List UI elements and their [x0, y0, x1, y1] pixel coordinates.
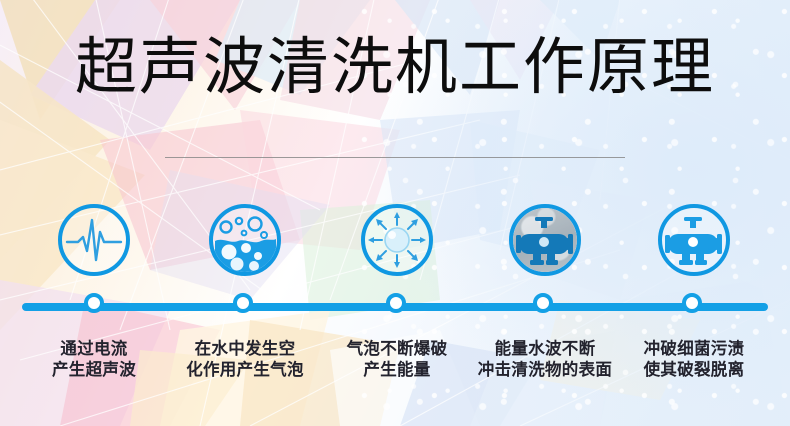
step-1-caption-line2: 产生超声波 — [14, 359, 174, 380]
step-2-caption: 在水中发生空 化作用产生气泡 — [165, 338, 325, 380]
step-3-caption-line1: 气泡不断爆破 — [317, 338, 477, 359]
step-4-caption: 能量水波不断 冲击清洗物的表面 — [465, 338, 625, 380]
clean-machine-part-icon — [658, 204, 730, 276]
step-5-caption-line2: 使其破裂脱离 — [614, 359, 774, 380]
step-3[interactable]: 气泡不断爆破 产生能量 — [317, 204, 477, 276]
step-3-caption-line2: 产生能量 — [317, 359, 477, 380]
step-5[interactable]: 冲破细菌污渍 使其破裂脱离 — [614, 204, 774, 276]
step-3-caption: 气泡不断爆破 产生能量 — [317, 338, 477, 380]
step-2-caption-line1: 在水中发生空 — [165, 338, 325, 359]
timeline-node-4[interactable] — [533, 293, 553, 313]
title-block: 超声波清洗机工作原理 — [0, 36, 790, 98]
waveform-pulse-icon — [58, 204, 130, 276]
step-2-caption-line2: 化作用产生气泡 — [165, 359, 325, 380]
bursting-bubble-arrows-icon — [361, 204, 433, 276]
step-4-caption-line2: 冲击清洗物的表面 — [465, 359, 625, 380]
timeline-node-5[interactable] — [682, 293, 702, 313]
title-divider — [165, 157, 625, 158]
step-1-caption-line1: 通过电流 — [14, 338, 174, 359]
dirty-machine-part-icon — [509, 204, 581, 276]
step-1-caption: 通过电流 产生超声波 — [14, 338, 174, 380]
step-1[interactable]: 通过电流 产生超声波 — [14, 204, 174, 276]
infographic-poster: 超声波清洗机工作原理 通过电流 产生超声波 — [0, 0, 790, 426]
step-4[interactable]: 能量水波不断 冲击清洗物的表面 — [465, 204, 625, 276]
step-5-caption-line1: 冲破细菌污渍 — [614, 338, 774, 359]
timeline-node-1[interactable] — [84, 293, 104, 313]
page-title: 超声波清洗机工作原理 — [0, 36, 790, 98]
bubbles-in-liquid-icon — [209, 204, 281, 276]
step-4-caption-line1: 能量水波不断 — [465, 338, 625, 359]
timeline-node-2[interactable] — [233, 293, 253, 313]
timeline-node-3[interactable] — [386, 293, 406, 313]
step-5-caption: 冲破细菌污渍 使其破裂脱离 — [614, 338, 774, 380]
step-2[interactable]: 在水中发生空 化作用产生气泡 — [165, 204, 325, 276]
